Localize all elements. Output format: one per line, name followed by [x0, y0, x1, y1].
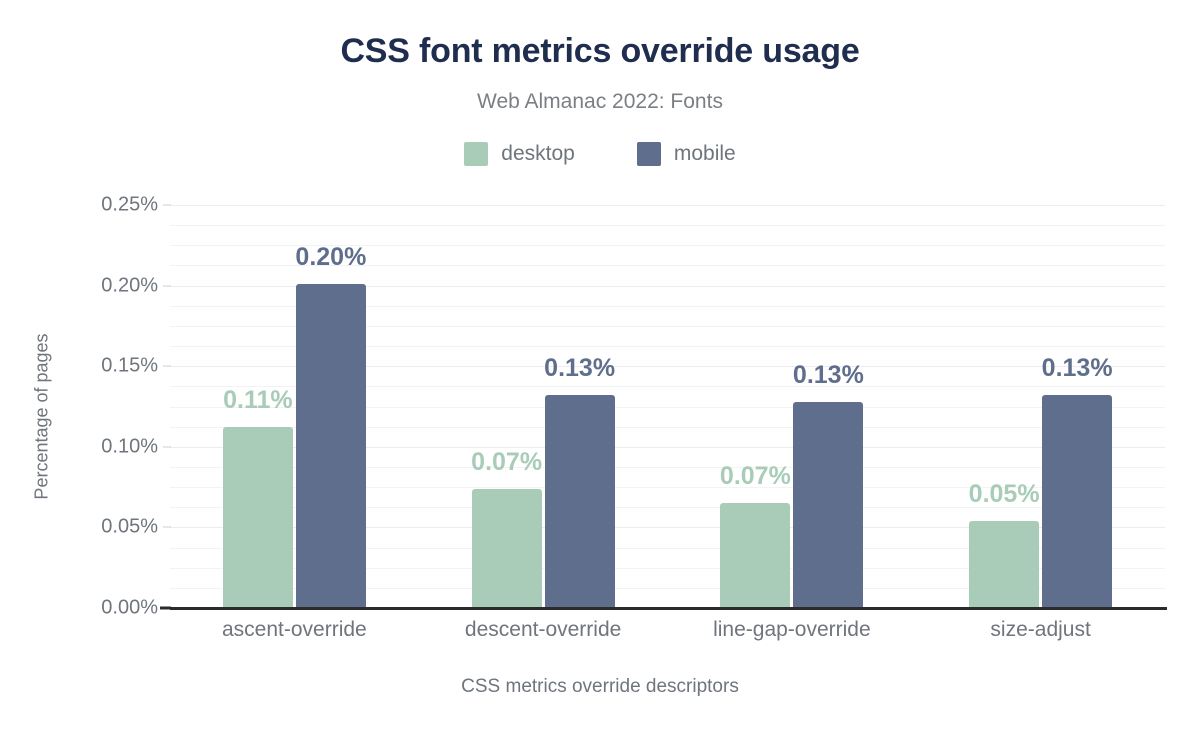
- y-axis-tick-label: 0.25%: [38, 194, 158, 217]
- bar-mobile-size-adjust[interactable]: [1042, 395, 1112, 608]
- bar-desktop-size-adjust[interactable]: [969, 521, 1039, 608]
- bar-value-label-mobile-descent-override: 0.13%: [495, 354, 665, 383]
- bar-mobile-line-gap-override[interactable]: [793, 402, 863, 608]
- legend-swatch-mobile: [637, 142, 661, 166]
- chart-container: CSS font metrics override usage Web Alma…: [0, 0, 1200, 742]
- y-axis-tick-mark: [160, 607, 171, 610]
- bar-mobile-descent-override[interactable]: [545, 395, 615, 608]
- legend-label-mobile: mobile: [674, 142, 736, 166]
- x-axis-tick-label: ascent-override: [164, 618, 424, 642]
- y-axis-tick-label: 0.00%: [38, 597, 158, 620]
- x-axis-tick-label: descent-override: [413, 618, 673, 642]
- legend-label-desktop: desktop: [501, 142, 575, 166]
- legend-swatch-desktop: [464, 142, 488, 166]
- x-axis-tick-label: size-adjust: [911, 618, 1171, 642]
- y-axis-tick-mark: [163, 205, 171, 206]
- legend-item-mobile[interactable]: mobile: [637, 142, 736, 166]
- bar-value-label-mobile-ascent-override: 0.20%: [246, 243, 416, 272]
- y-axis-tick-mark: [163, 446, 171, 447]
- x-axis-title: CSS metrics override descriptors: [0, 676, 1200, 698]
- y-axis-title: Percentage of pages: [32, 207, 53, 627]
- bar-value-label-mobile-line-gap-override: 0.13%: [743, 361, 913, 390]
- y-axis-tick-label: 0.20%: [38, 274, 158, 297]
- gridline-minor: [170, 225, 1165, 226]
- x-axis-baseline: [170, 607, 1167, 610]
- plot-area: 0.11%0.20%0.07%0.13%0.07%0.13%0.05%0.13%: [170, 205, 1165, 608]
- y-axis-tick-mark: [163, 527, 171, 528]
- legend-item-desktop[interactable]: desktop: [464, 142, 575, 166]
- bar-desktop-ascent-override[interactable]: [223, 427, 293, 608]
- y-axis-tick-label: 0.10%: [38, 435, 158, 458]
- bar-desktop-line-gap-override[interactable]: [720, 503, 790, 608]
- bar-mobile-ascent-override[interactable]: [296, 284, 366, 608]
- y-axis-tick-mark: [163, 366, 171, 367]
- y-axis-tick-label: 0.15%: [38, 355, 158, 378]
- y-axis-tick-label: 0.05%: [38, 516, 158, 539]
- bar-value-label-mobile-size-adjust: 0.13%: [992, 354, 1162, 383]
- chart-title: CSS font metrics override usage: [0, 32, 1200, 71]
- chart-subtitle: Web Almanac 2022: Fonts: [0, 90, 1200, 114]
- bar-desktop-descent-override[interactable]: [472, 489, 542, 608]
- y-axis-tick-mark: [163, 285, 171, 286]
- x-axis-tick-label: line-gap-override: [662, 618, 922, 642]
- gridline-major: [170, 205, 1165, 206]
- chart-legend: desktop mobile: [0, 142, 1200, 166]
